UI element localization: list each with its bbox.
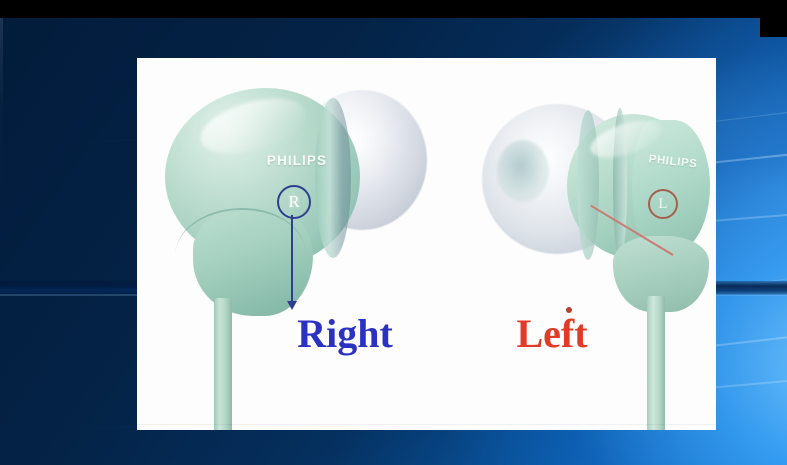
left-edge-artifact [0, 18, 3, 465]
right-earbud-collar-ring [315, 98, 351, 258]
top-black-bar [0, 0, 787, 18]
left-earbud-cable [647, 296, 665, 430]
left-channel-badge: L [648, 189, 678, 219]
left-earbud-eartip-bore [497, 140, 549, 202]
window-controls-block [760, 0, 787, 37]
screen: PHILIPS R Right PHILIPS L Left [0, 0, 787, 465]
product-photo-panel: PHILIPS R Right PHILIPS L Left [137, 58, 716, 430]
right-leader-arrowhead [287, 301, 297, 310]
right-caption-label: Right [255, 310, 435, 357]
photo-bottom-hairline [137, 424, 716, 425]
right-leader-line [291, 215, 293, 303]
right-channel-letter: R [288, 192, 299, 212]
left-earbud-ring-outer [577, 110, 599, 260]
left-caption-label: Left [467, 310, 637, 357]
left-channel-letter: L [658, 196, 667, 213]
right-channel-badge: R [277, 185, 311, 219]
right-earbud-brand-label: PHILIPS [252, 153, 342, 168]
right-earbud-cable [214, 298, 232, 430]
